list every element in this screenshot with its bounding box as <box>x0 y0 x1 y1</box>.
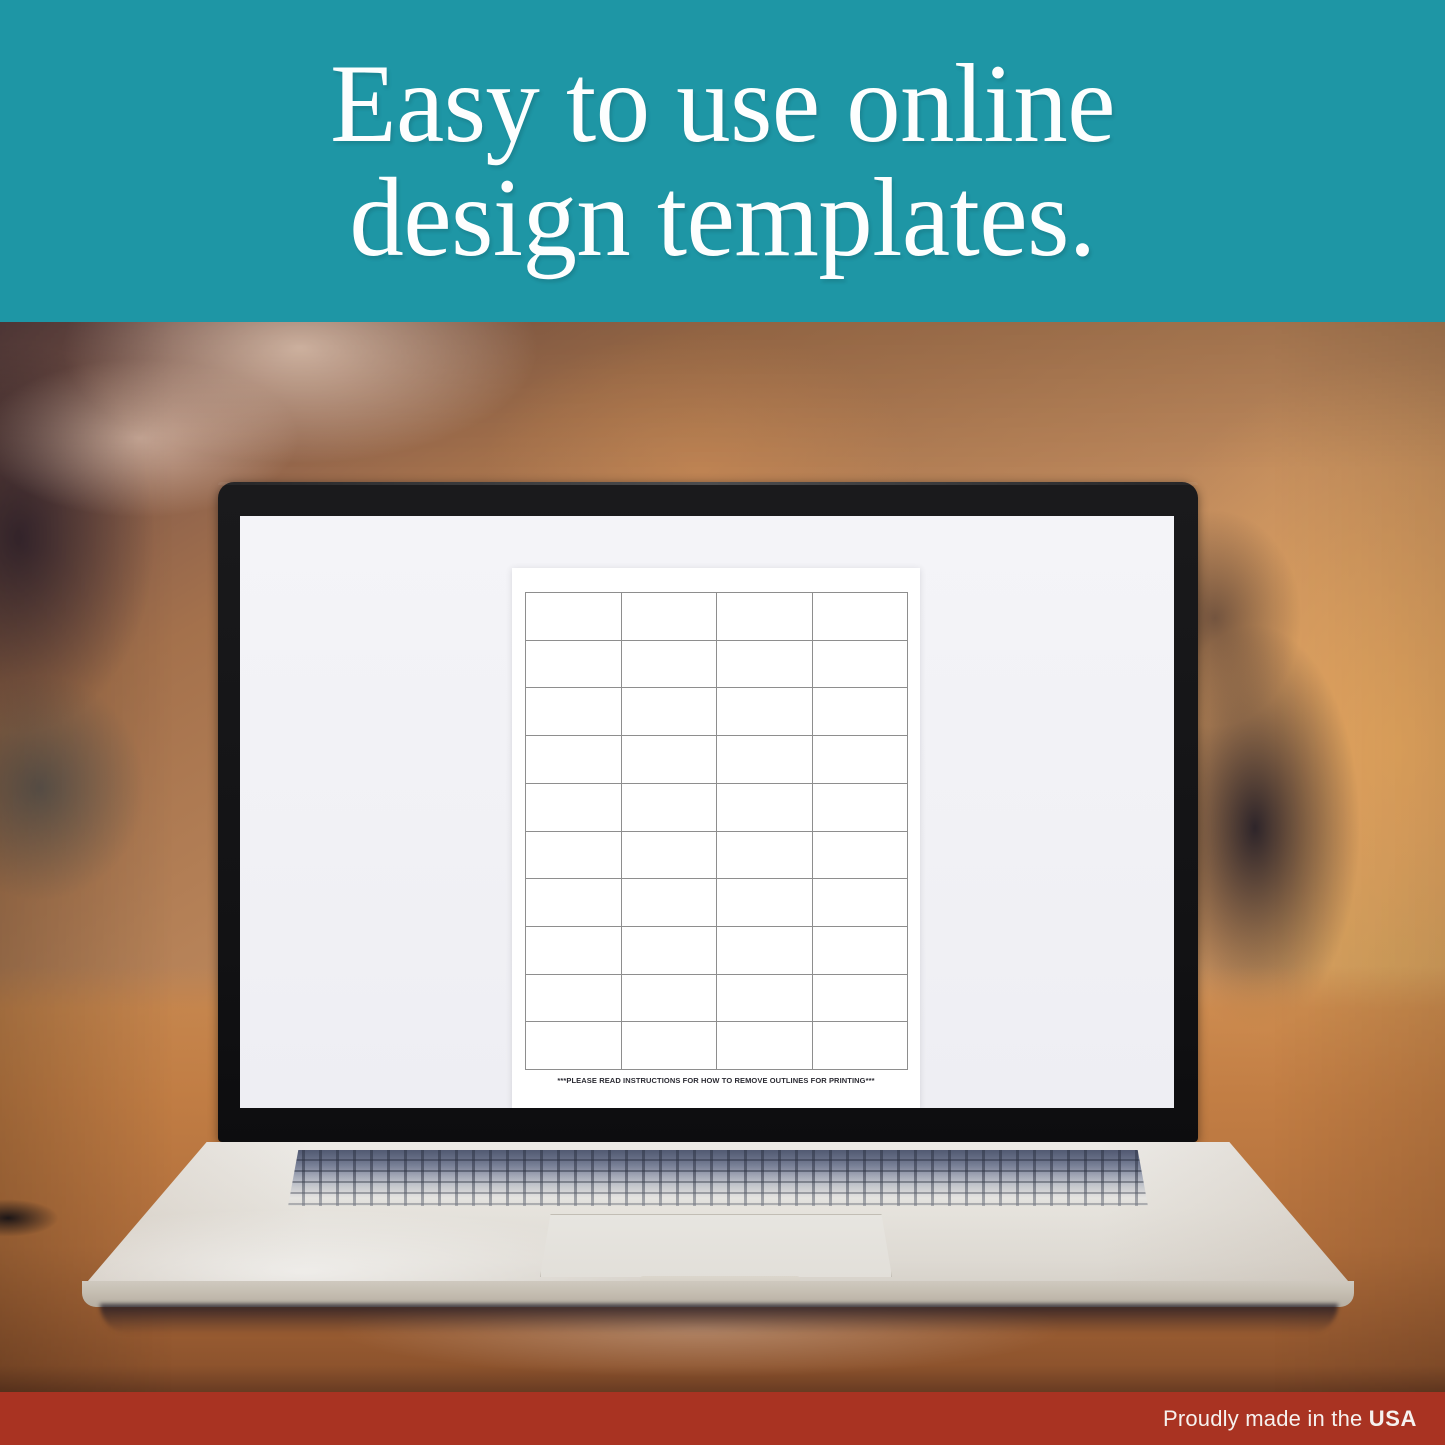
label-cell[interactable] <box>526 927 622 975</box>
label-cell[interactable] <box>717 927 813 975</box>
label-cell[interactable] <box>526 975 622 1023</box>
label-cell[interactable] <box>813 832 909 880</box>
label-cell[interactable] <box>622 593 718 641</box>
label-cell[interactable] <box>622 784 718 832</box>
label-cell[interactable] <box>622 688 718 736</box>
headline: Easy to use online design templates. <box>291 47 1153 275</box>
laptop-trackpad[interactable] <box>540 1214 892 1277</box>
label-cell[interactable] <box>526 879 622 927</box>
poster-canvas: ***PLEASE READ INSTRUCTIONS FOR HOW TO R… <box>0 0 1445 1445</box>
label-cell[interactable] <box>717 784 813 832</box>
label-cell[interactable] <box>717 879 813 927</box>
label-cell[interactable] <box>717 641 813 689</box>
laptop-base-shadow <box>100 1304 1338 1334</box>
label-cell[interactable] <box>622 927 718 975</box>
laptop-keyboard[interactable] <box>288 1150 1148 1206</box>
made-in-usa-emphasis: USA <box>1369 1406 1417 1431</box>
label-cell[interactable] <box>622 641 718 689</box>
label-cell[interactable] <box>526 641 622 689</box>
label-cell[interactable] <box>526 688 622 736</box>
label-cell[interactable] <box>717 832 813 880</box>
label-template-grid[interactable] <box>525 592 908 1070</box>
label-cell[interactable] <box>717 736 813 784</box>
label-cell[interactable] <box>813 1022 909 1070</box>
label-cell[interactable] <box>622 832 718 880</box>
laptop-screen[interactable]: ***PLEASE READ INSTRUCTIONS FOR HOW TO R… <box>240 516 1174 1108</box>
label-cell[interactable] <box>813 975 909 1023</box>
laptop-lid: ***PLEASE READ INSTRUCTIONS FOR HOW TO R… <box>218 482 1198 1142</box>
headline-line-1: Easy to use online <box>330 42 1115 166</box>
label-cell[interactable] <box>717 688 813 736</box>
template-document-page[interactable]: ***PLEASE READ INSTRUCTIONS FOR HOW TO R… <box>512 568 920 1108</box>
label-cell[interactable] <box>813 927 909 975</box>
label-cell[interactable] <box>622 736 718 784</box>
headline-line-2: design templates. <box>330 161 1115 275</box>
header-banner: Easy to use online design templates. <box>0 0 1445 322</box>
label-cell[interactable] <box>526 784 622 832</box>
label-cell[interactable] <box>813 641 909 689</box>
label-cell[interactable] <box>813 784 909 832</box>
label-cell[interactable] <box>622 879 718 927</box>
print-instructions-note: ***PLEASE READ INSTRUCTIONS FOR HOW TO R… <box>512 1076 920 1085</box>
label-cell[interactable] <box>813 688 909 736</box>
label-cell[interactable] <box>717 975 813 1023</box>
label-cell[interactable] <box>813 879 909 927</box>
made-in-prefix: Proudly made in the <box>1163 1406 1369 1431</box>
label-cell[interactable] <box>526 593 622 641</box>
made-in-usa-label: Proudly made in the USA <box>1163 1406 1445 1432</box>
label-cell[interactable] <box>717 1022 813 1070</box>
label-cell[interactable] <box>526 1022 622 1070</box>
label-cell[interactable] <box>813 593 909 641</box>
label-cell[interactable] <box>526 736 622 784</box>
footer-banner: Proudly made in the USA <box>0 1392 1445 1445</box>
label-cell[interactable] <box>813 736 909 784</box>
label-cell[interactable] <box>526 832 622 880</box>
label-cell[interactable] <box>622 1022 718 1070</box>
label-cell[interactable] <box>622 975 718 1023</box>
label-cell[interactable] <box>717 593 813 641</box>
